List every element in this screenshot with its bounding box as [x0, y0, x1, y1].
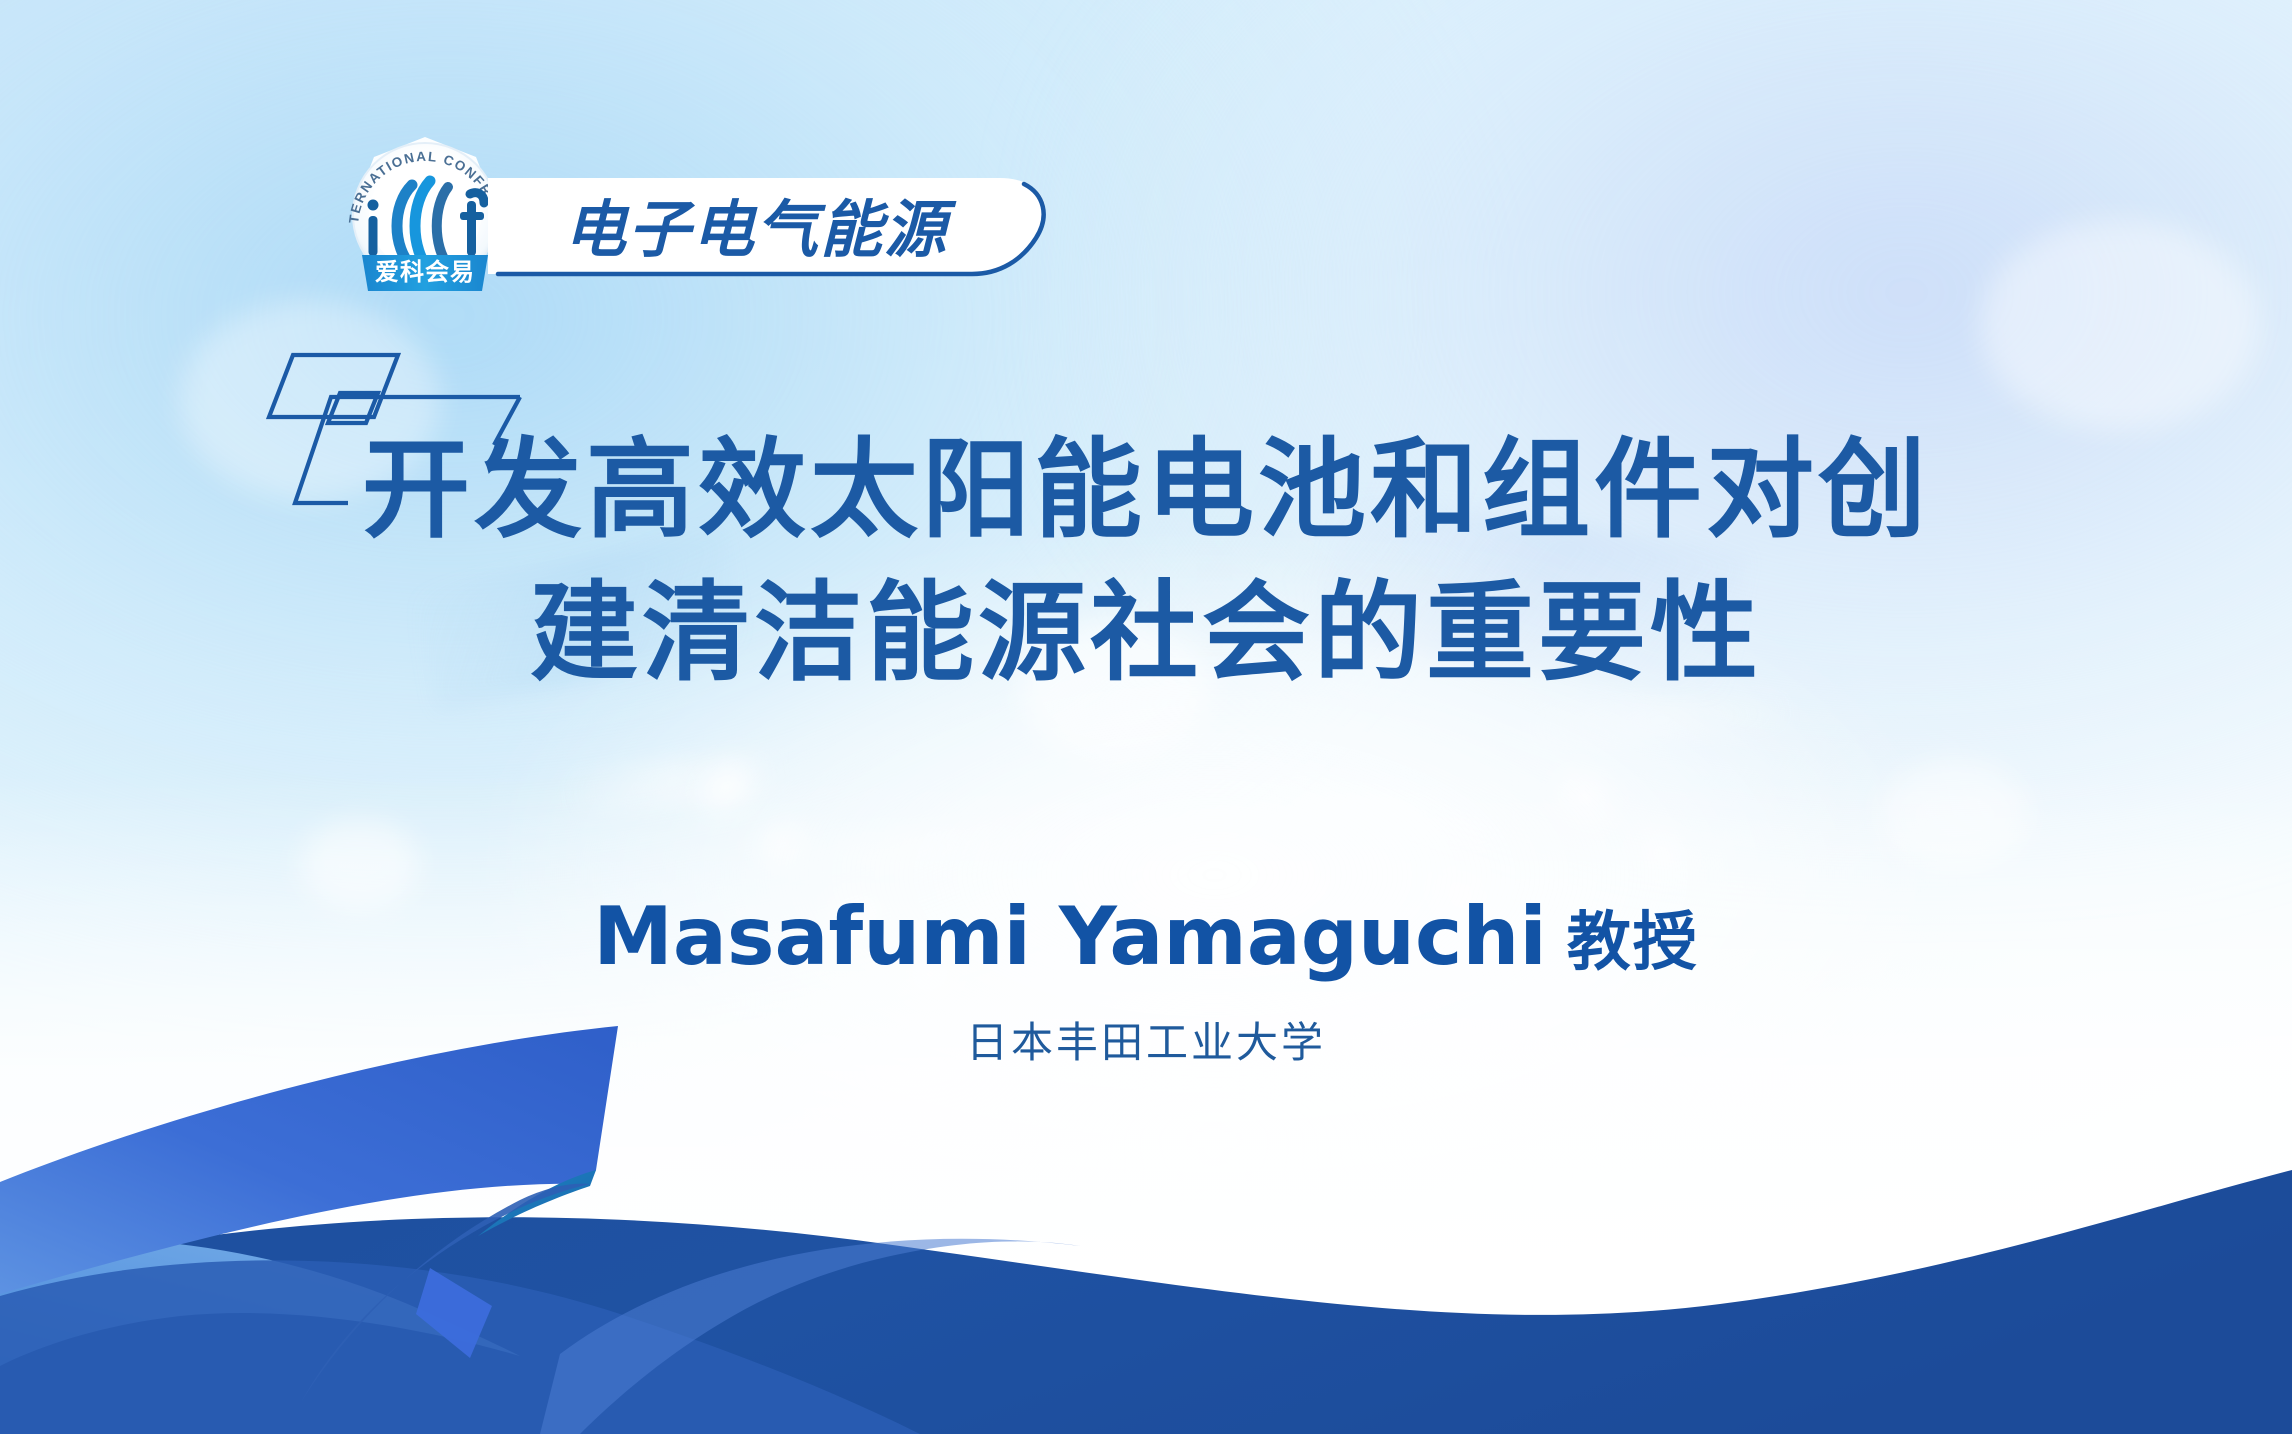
- bottom-wave-graphic: [0, 974, 2292, 1434]
- logo-ribbon: 爱科会易: [362, 255, 488, 291]
- conference-name-banner: 电子电气能源: [488, 172, 1064, 280]
- conference-name-label: 电子电气能源: [564, 179, 948, 269]
- page-title: 开发高效太阳能电池和组件对创 建清洁能源社会的重要性: [0, 420, 2292, 705]
- conference-title-slide: INTERNATIONAL CONFRENCE: [0, 0, 2292, 1434]
- logo-ribbon-label: 爱科会易: [375, 258, 475, 286]
- speaker-line: Masafumi Yamaguchi教授: [0, 890, 2292, 983]
- title-line-1: 开发高效太阳能电池和组件对创: [0, 420, 2292, 563]
- title-line-2: 建清洁能源社会的重要性: [0, 563, 2292, 706]
- speaker-name: Masafumi Yamaguchi: [593, 890, 1547, 983]
- speaker-honorific: 教授: [1567, 906, 1699, 978]
